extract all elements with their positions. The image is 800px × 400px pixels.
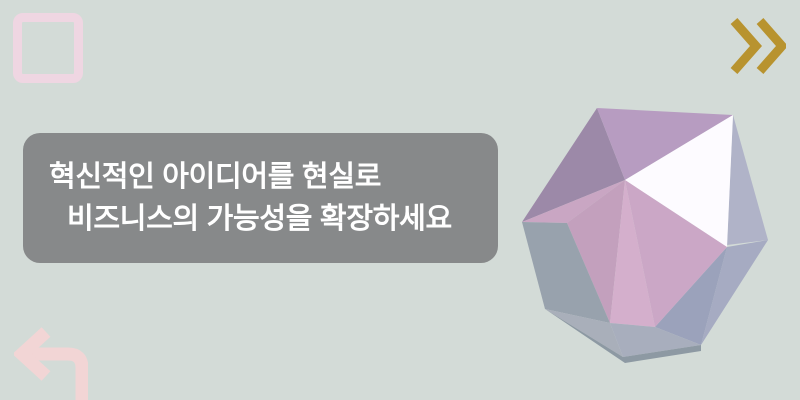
return-arrow-left-glyph bbox=[14, 320, 88, 400]
headline-line-2: 비즈니스의 가능성을 확장하세요 bbox=[49, 198, 472, 240]
promo-banner: 혁신적인 아이디어를 현실로 비즈니스의 가능성을 확장하세요 bbox=[0, 0, 800, 400]
icosahedron-facets bbox=[505, 95, 790, 370]
double-chevron-right-glyph bbox=[730, 16, 786, 76]
headline-line-1: 혁신적인 아이디어를 현실로 bbox=[49, 156, 472, 198]
rounded-square-outline-icon bbox=[13, 13, 83, 83]
icosahedron-3d-icon bbox=[505, 95, 790, 370]
double-chevron-right-icon bbox=[730, 16, 786, 76]
headline-plate: 혁신적인 아이디어를 현실로 비즈니스의 가능성을 확장하세요 bbox=[23, 133, 498, 263]
return-arrow-left-icon bbox=[14, 320, 88, 400]
facet-top-right-sliver bbox=[727, 115, 768, 245]
